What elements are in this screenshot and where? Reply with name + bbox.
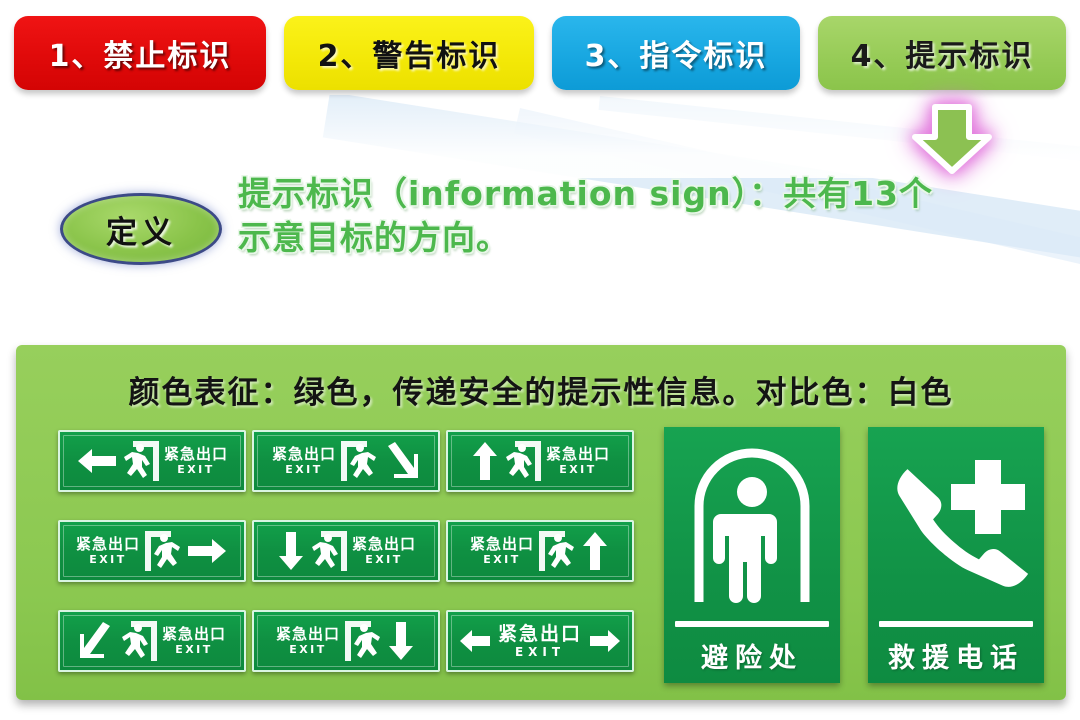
running-man-icon [121,439,161,483]
down-arrow-marker-icon [905,103,999,175]
exit-sign-label-en: EXIT [76,554,140,565]
exit-sign: 紧急出口 EXIT [252,430,440,492]
exit-sign-label-en: EXIT [164,464,228,475]
exit-sign-text: 紧急出口 EXIT [352,537,416,565]
definition-text: 提示标识（information sign）：共有13个 示意目标的方向。 [238,172,998,260]
exit-sign-text: 紧急出口 EXIT [546,447,610,475]
exit-sign-text: 紧急出口 EXIT [162,627,226,655]
exit-sign-label-cn: 紧急出口 [162,627,226,642]
big-sign-label: 救援电话 [888,627,1024,683]
tab-warning-sign[interactable]: 2、警告标识 [284,16,534,90]
running-man-icon [339,439,379,483]
tab-label: 4、提示标识 [851,31,1034,75]
big-sign-rescue-phone: 救援电话 [868,427,1044,683]
running-man-icon [143,529,183,573]
exit-sign-label-cn: 紧急出口 [352,537,416,552]
arrow-up-icon [580,530,610,572]
tab-label: 3、指令标识 [585,31,768,75]
definition-badge-label: 定义 [106,207,176,252]
exit-sign-text: 紧急出口 EXIT [470,537,534,565]
exit-sign: 紧急出口 EXIT [252,610,440,672]
tab-label: 2、警告标识 [318,31,501,75]
tab-directive-sign[interactable]: 3、指令标识 [552,16,800,90]
category-tabs: 1、禁止标识 2、警告标识 3、指令标识 4、提示标识 [0,16,1080,98]
running-man-icon [343,619,383,663]
tab-information-sign[interactable]: 4、提示标识 [818,16,1066,90]
person-under-arch-icon [664,427,840,621]
arrow-left-icon [76,446,118,476]
exit-sign-label-en: EXIT [470,554,534,565]
exit-sign: 紧急出口 EXIT [252,520,440,582]
exit-sign-label-en: EXIT [352,554,416,565]
exit-sign: 紧急出口 EXIT [446,610,634,672]
exit-sign-label-cn: 紧急出口 [276,627,340,642]
information-sign-panel: 颜色表征：绿色，传递安全的提示性信息。对比色：白色 紧急出口 EXIT [16,345,1066,700]
exit-sign-text: 紧急出口 EXIT [164,447,228,475]
exit-sign: 紧急出口 EXIT [58,610,246,672]
exit-sign: 紧急出口 EXIT [446,520,634,582]
exit-sign-grid: 紧急出口 EXIT 紧急出口 EXIT [58,430,638,680]
exit-sign-label-cn: 紧急出口 [470,537,534,552]
big-sign-shelter: 避险处 [664,427,840,683]
tab-label: 1、禁止标识 [49,31,232,75]
arrow-down-icon [276,530,306,572]
exit-sign-label-en: EXIT [272,464,336,475]
slide-root: 1、禁止标识 2、警告标识 3、指令标识 4、提示标识 定义 提示标识（info… [0,0,1080,720]
exit-sign: 紧急出口 EXIT [58,520,246,582]
arrow-down-left-icon [78,622,116,660]
definition-line-2: 示意目标的方向。 [238,216,998,260]
definition-line-1: 提示标识（information sign）：共有13个 [238,172,998,216]
running-man-icon [309,529,349,573]
exit-sign-text: 紧急出口 EXIT [76,537,140,565]
exit-sign: 紧急出口 EXIT [58,430,246,492]
exit-sign-text: 紧急出口 EXIT [498,625,582,658]
exit-sign-label-en: EXIT [546,464,610,475]
telephone-cross-icon [868,427,1044,621]
arrow-down-icon [386,620,416,662]
arrow-down-right-icon [382,442,420,480]
running-man-icon [537,529,577,573]
exit-sign-label-en: EXIT [498,646,582,658]
arrow-left-icon [458,628,492,654]
definition-badge: 定义 [60,193,222,265]
arrow-right-icon [588,628,622,654]
big-sign-label: 避险处 [701,627,803,683]
exit-sign-text: 紧急出口 EXIT [272,447,336,475]
exit-sign-label-en: EXIT [276,644,340,655]
exit-sign-text: 紧急出口 EXIT [276,627,340,655]
tab-prohibition-sign[interactable]: 1、禁止标识 [14,16,266,90]
exit-sign: 紧急出口 EXIT [446,430,634,492]
exit-sign-label-cn: 紧急出口 [76,537,140,552]
arrow-up-icon [470,440,500,482]
arrow-right-icon [186,536,228,566]
exit-sign-label-cn: 紧急出口 [272,447,336,462]
panel-title: 颜色表征：绿色，传递安全的提示性信息。对比色：白色 [16,367,1066,412]
background-diagonal-3 [599,96,1080,173]
running-man-icon [503,439,543,483]
exit-sign-label-cn: 紧急出口 [164,447,228,462]
running-man-icon [119,619,159,663]
exit-sign-label-cn: 紧急出口 [546,447,610,462]
exit-sign-label-en: EXIT [162,644,226,655]
exit-sign-label-cn: 紧急出口 [498,625,582,644]
